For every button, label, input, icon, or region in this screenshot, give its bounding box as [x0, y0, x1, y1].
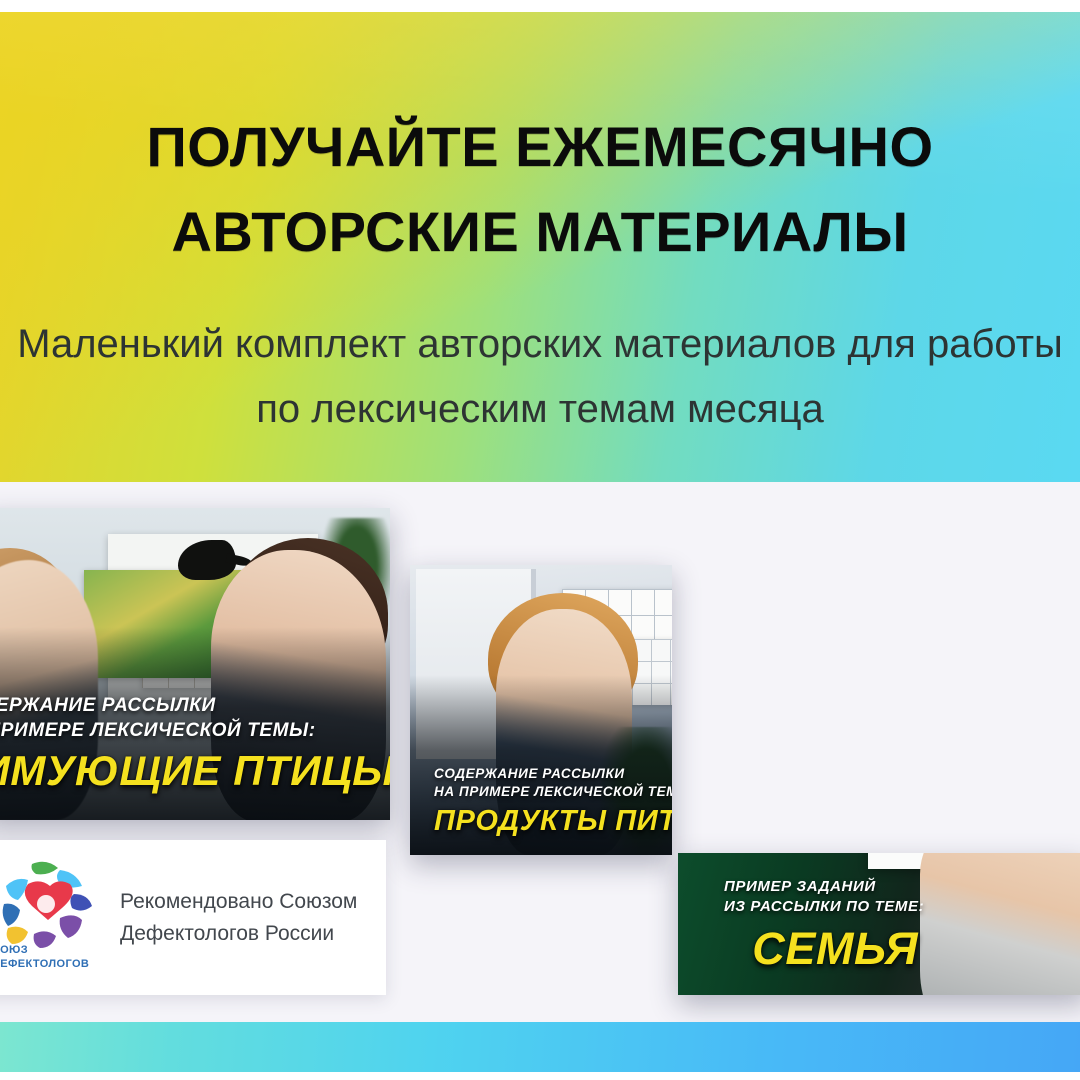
footer-gradient-bar — [0, 1022, 1080, 1072]
headline-line-1: ПОЛУЧАЙТЕ ЕЖЕМЕСЯЧНО — [146, 115, 933, 178]
card-birds-caption: СОДЕРЖАНИЕ РАССЫЛКИ НА ПРИМЕРЕ ЛЕКСИЧЕСК… — [0, 693, 390, 794]
recommendation-text: Рекомендовано Союзом Дефектологов России — [120, 886, 357, 950]
union-logo-icon — [0, 860, 98, 952]
subtitle-line-1: Маленький комплект авторских материалов … — [17, 322, 1063, 366]
union-logo-text: СОЮЗ ДЕФЕКТОЛОГОВ — [0, 944, 102, 972]
page-subtitle: Маленький комплект авторских материалов … — [0, 312, 1080, 442]
subtitle-line-2: по лексическим темам месяца — [0, 377, 1080, 442]
card-birds-caption-line-1: СОДЕРЖАНИЕ РАССЫЛКИ — [0, 693, 390, 718]
card-family-caption-line-2: ИЗ РАССЫЛКИ ПО ТЕМЕ: — [724, 897, 924, 917]
headline-line-2: АВТОРСКИЕ МАТЕРИАЛЫ — [0, 189, 1080, 274]
person-right — [920, 853, 1080, 995]
page-title: ПОЛУЧАЙТЕ ЕЖЕМЕСЯЧНО АВТОРСКИЕ МАТЕРИАЛЫ — [0, 104, 1080, 274]
top-white-strip — [0, 0, 1080, 12]
card-food-caption: СОДЕРЖАНИЕ РАССЫЛКИ НА ПРИМЕРЕ ЛЕКСИЧЕСК… — [434, 765, 672, 837]
card-family-caption: ПРИМЕР ЗАДАНИЙ ИЗ РАССЫЛКИ ПО ТЕМЕ: СЕМЬ… — [724, 877, 924, 973]
card-family-topic: СЕМЬЯ — [724, 925, 924, 973]
union-logo-line-2: ДЕФЕКТОЛОГОВ — [0, 958, 102, 972]
promo-slide: ПОЛУЧАЙТЕ ЕЖЕМЕСЯЧНО АВТОРСКИЕ МАТЕРИАЛЫ… — [0, 0, 1080, 1080]
card-food-caption-line-1: СОДЕРЖАНИЕ РАССЫЛКИ — [434, 765, 672, 783]
bottom-white-strip — [0, 1072, 1080, 1080]
recommendation-line-1: Рекомендовано Союзом — [120, 890, 357, 913]
hero-banner: ПОЛУЧАЙТЕ ЕЖЕМЕСЯЧНО АВТОРСКИЕ МАТЕРИАЛЫ… — [0, 12, 1080, 482]
card-food-caption-line-2: НА ПРИМЕРЕ ЛЕКСИЧЕСКОЙ ТЕМЫ: — [434, 783, 672, 801]
card-food-topic: ПРОДУКТЫ ПИТАНИЯ — [434, 806, 672, 837]
video-card-birds[interactable]: СОДЕРЖАНИЕ РАССЫЛКИ НА ПРИМЕРЕ ЛЕКСИЧЕСК… — [0, 508, 390, 820]
video-card-food[interactable]: СОДЕРЖАНИЕ РАССЫЛКИ НА ПРИМЕРЕ ЛЕКСИЧЕСК… — [410, 565, 672, 855]
recommendation-badge: СОЮЗ ДЕФЕКТОЛОГОВ Рекомендовано Союзом Д… — [0, 840, 386, 995]
card-birds-caption-line-2: НА ПРИМЕРЕ ЛЕКСИЧЕСКОЙ ТЕМЫ: — [0, 718, 390, 743]
card-family-caption-line-1: ПРИМЕР ЗАДАНИЙ — [724, 877, 924, 897]
card-birds-topic: ЗИМУЮЩИЕ ПТИЦЫ — [0, 749, 390, 794]
video-card-family[interactable]: ПРИМЕР ЗАДАНИЙ ИЗ РАССЫЛКИ ПО ТЕМЕ: СЕМЬ… — [678, 853, 1080, 995]
union-logo-line-1: СОЮЗ — [0, 944, 28, 956]
union-logo: СОЮЗ ДЕФЕКТОЛОГОВ — [0, 858, 102, 978]
recommendation-line-2: Дефектологов России — [120, 918, 357, 950]
